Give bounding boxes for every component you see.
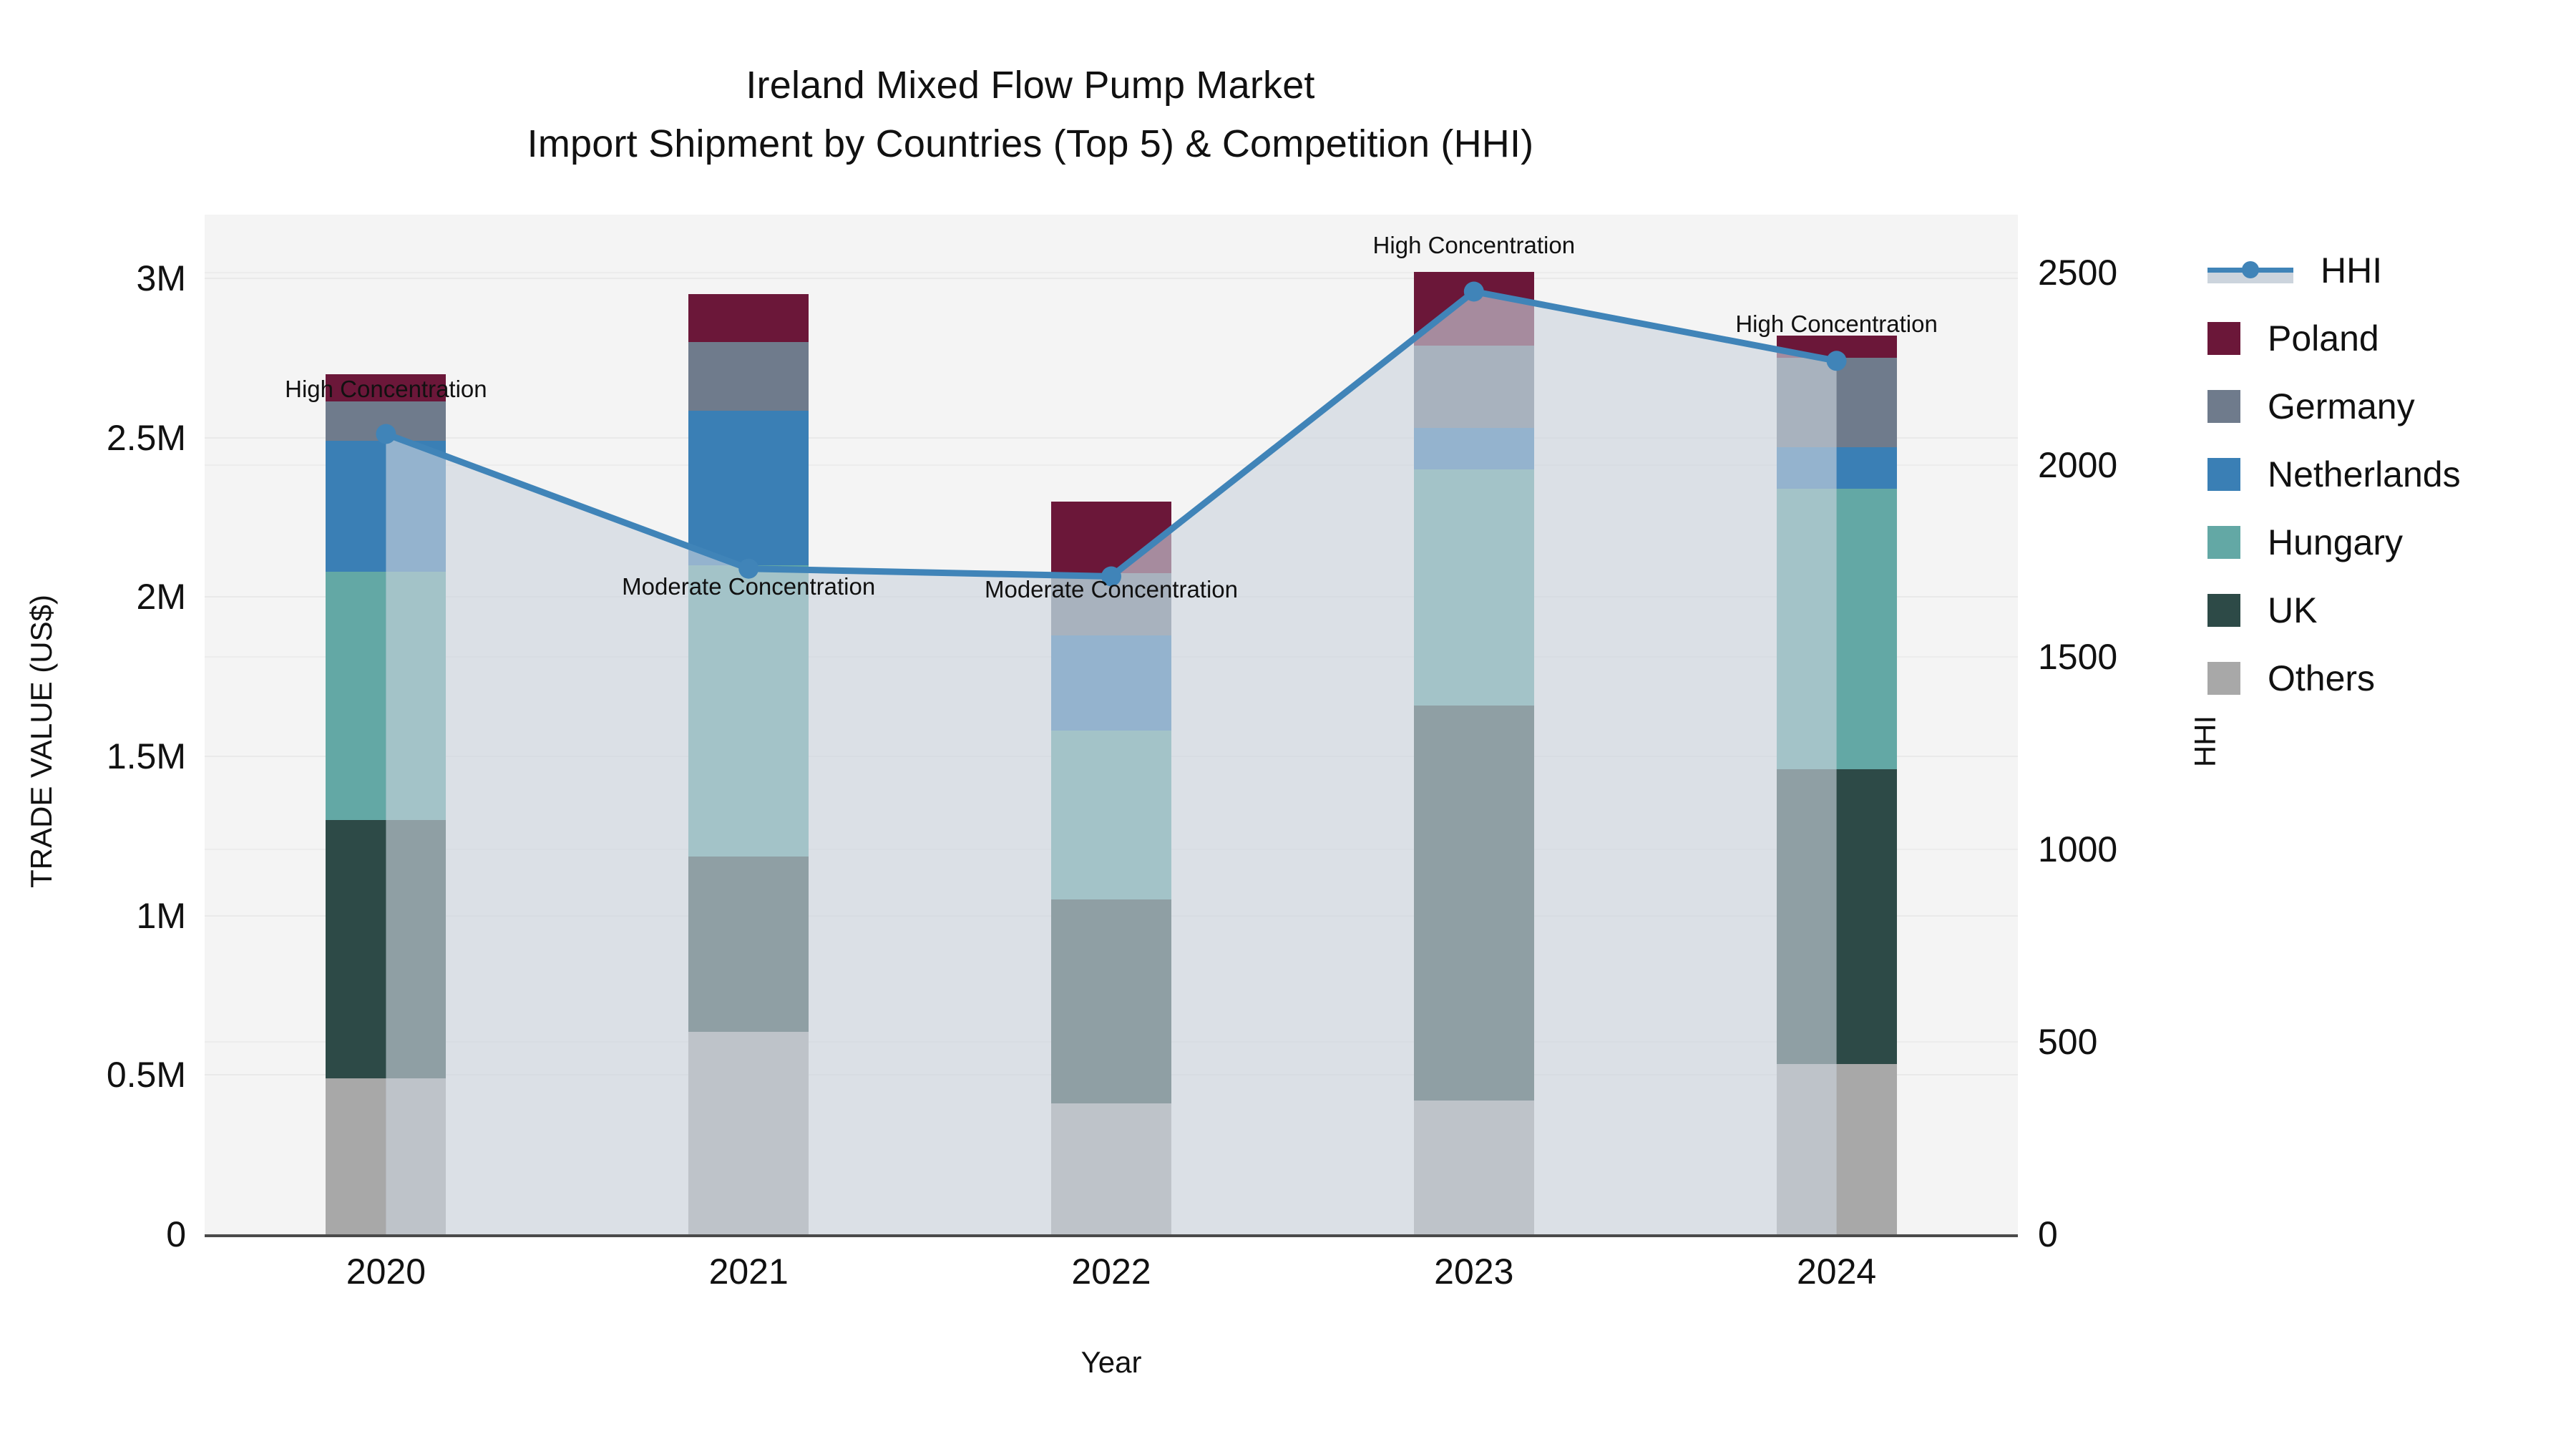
- legend-swatch: [2207, 390, 2240, 423]
- legend-swatch: [2207, 458, 2240, 491]
- y-axis-right-tick-label: 2500: [2038, 252, 2117, 293]
- hhi-marker[interactable]: [1827, 351, 1847, 371]
- legend-label: Netherlands: [2268, 457, 2461, 492]
- plot-area: [205, 215, 2018, 1234]
- hhi-marker[interactable]: [1464, 282, 1484, 302]
- legend-item-poland[interactable]: Poland: [2207, 304, 2461, 372]
- legend-swatch: [2207, 526, 2240, 559]
- legend-item-others[interactable]: Others: [2207, 644, 2461, 712]
- legend-item-hhi[interactable]: HHI: [2207, 236, 2461, 304]
- hhi-line-layer: [205, 215, 2018, 1234]
- x-axis-title: Year: [205, 1345, 2018, 1380]
- y-axis-left-tick-label: 2.5M: [14, 417, 186, 459]
- y-axis-right-tick-label: 1500: [2038, 636, 2117, 678]
- legend-label: HHI: [2321, 253, 2382, 288]
- y-axis-left-tick-label: 3M: [14, 258, 186, 299]
- y-axis-right-tick-label: 0: [2038, 1214, 2058, 1255]
- legend-label: Hungary: [2268, 525, 2403, 560]
- x-axis-tick-label: 2021: [641, 1251, 856, 1292]
- legend-item-germany[interactable]: Germany: [2207, 372, 2461, 440]
- concentration-annotation: High Concentration: [285, 376, 487, 403]
- concentration-annotation: High Concentration: [1373, 232, 1576, 259]
- legend-swatch: [2207, 322, 2240, 355]
- x-axis-line: [205, 1234, 2018, 1237]
- legend-label: Germany: [2268, 389, 2415, 424]
- legend-line-dot: [2242, 261, 2259, 278]
- x-axis-tick-label: 2022: [1004, 1251, 1219, 1292]
- concentration-annotation: High Concentration: [1735, 311, 1938, 338]
- x-axis-tick-label: 2020: [278, 1251, 493, 1292]
- y-axis-right-tick-label: 2000: [2038, 444, 2117, 486]
- y-axis-left-title: TRADE VALUE (US$): [24, 541, 59, 942]
- hhi-area-fill: [386, 292, 1836, 1235]
- concentration-annotation: Moderate Concentration: [622, 573, 875, 600]
- legend-line-marker: [2207, 254, 2293, 287]
- legend-label: Poland: [2268, 321, 2379, 356]
- legend-item-hungary[interactable]: Hungary: [2207, 508, 2461, 576]
- chart-legend: HHIPolandGermanyNetherlandsHungaryUKOthe…: [2207, 236, 2461, 712]
- legend-label: UK: [2268, 592, 2317, 628]
- concentration-annotation: Moderate Concentration: [985, 576, 1238, 603]
- legend-item-netherlands[interactable]: Netherlands: [2207, 440, 2461, 508]
- legend-swatch: [2207, 662, 2240, 695]
- legend-item-uk[interactable]: UK: [2207, 576, 2461, 644]
- y-axis-right-tick-label: 500: [2038, 1021, 2097, 1063]
- chart-figure: Ireland Mixed Flow Pump Market Import Sh…: [0, 0, 2576, 1449]
- y-axis-left-tick-label: 0.5M: [14, 1054, 186, 1096]
- chart-title: Ireland Mixed Flow Pump Market Import Sh…: [0, 56, 2061, 173]
- legend-label: Others: [2268, 660, 2375, 696]
- hhi-marker[interactable]: [376, 424, 396, 444]
- chart-title-line-1: Ireland Mixed Flow Pump Market: [0, 56, 2061, 114]
- y-axis-right-tick-label: 1000: [2038, 829, 2117, 870]
- chart-title-line-2: Import Shipment by Countries (Top 5) & C…: [0, 114, 2061, 173]
- legend-swatch: [2207, 594, 2240, 627]
- x-axis-tick-label: 2024: [1729, 1251, 1944, 1292]
- y-axis-left-tick-label: 0: [14, 1214, 186, 1255]
- x-axis-tick-label: 2023: [1367, 1251, 1581, 1292]
